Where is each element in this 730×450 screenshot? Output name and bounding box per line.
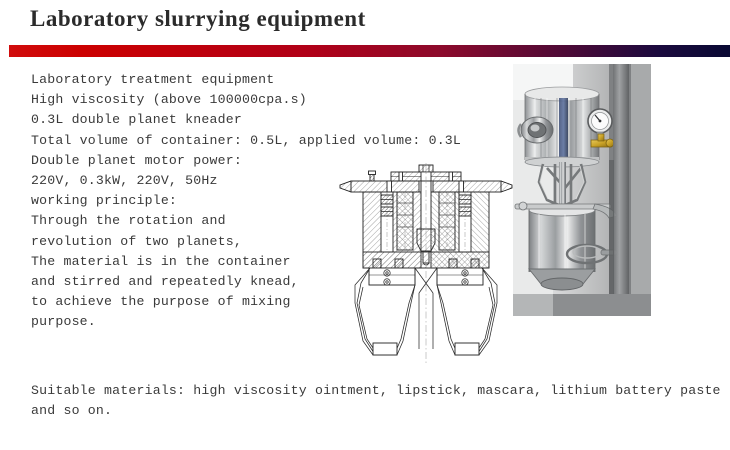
- spec-line: Through the rotation and: [31, 211, 361, 231]
- spec-line: 0.3L double planet kneader: [31, 110, 361, 130]
- spec-line: purpose.: [31, 312, 361, 332]
- spec-line: and stirred and repeatedly knead,: [31, 272, 361, 292]
- footer-line: and so on.: [31, 401, 711, 421]
- spec-line: 220V, 0.3kW, 220V, 50Hz: [31, 171, 361, 191]
- footer-line: Suitable materials: high viscosity ointm…: [31, 381, 711, 401]
- spec-line: revolution of two planets,: [31, 232, 361, 252]
- spec-line: Total volume of container: 0.5L, applied…: [31, 131, 361, 151]
- mixer-machine-photo: [513, 64, 651, 316]
- spec-line: Double planet motor power:: [31, 151, 361, 171]
- spec-line: High viscosity (above 100000cpa.s): [31, 90, 361, 110]
- slide-page: Laboratory slurrying equipment Laborator…: [0, 0, 730, 450]
- spec-line: Laboratory treatment equipment: [31, 70, 361, 90]
- spec-line: to achieve the purpose of mixing: [31, 292, 361, 312]
- suitable-materials-note: Suitable materials: high viscosity ointm…: [31, 381, 711, 420]
- spec-line: working principle:: [31, 191, 361, 211]
- double-planetary-mixer-cross-section-drawing: [337, 163, 515, 363]
- specification-text-block: Laboratory treatment equipment High visc…: [31, 70, 361, 333]
- page-title: Laboratory slurrying equipment: [30, 6, 366, 32]
- spec-line: The material is in the container: [31, 252, 361, 272]
- gradient-divider: [9, 44, 730, 56]
